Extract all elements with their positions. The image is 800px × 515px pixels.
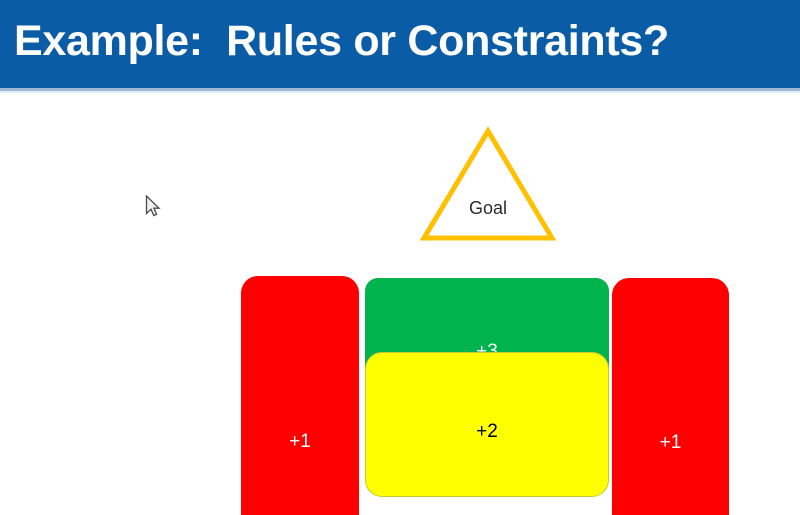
title-banner: Example: Rules or Constraints? [0,0,800,88]
block-yellow-label: +2 [476,422,498,441]
page-title: Example: Rules or Constraints? [14,8,784,74]
goal-label: Goal [418,198,558,219]
block-left-red[interactable]: +1 [241,276,359,515]
block-yellow[interactable]: +2 [365,352,609,497]
block-left-red-label: +1 [289,432,311,451]
block-right-red[interactable]: +1 [612,278,729,515]
slide-canvas: Example: Rules or Constraints? Goal +1 +… [0,0,800,515]
diagram-area: Goal +1 +3 +2 +1 [0,93,800,515]
goal-triangle-icon [418,125,558,245]
block-right-red-label: +1 [660,433,682,452]
